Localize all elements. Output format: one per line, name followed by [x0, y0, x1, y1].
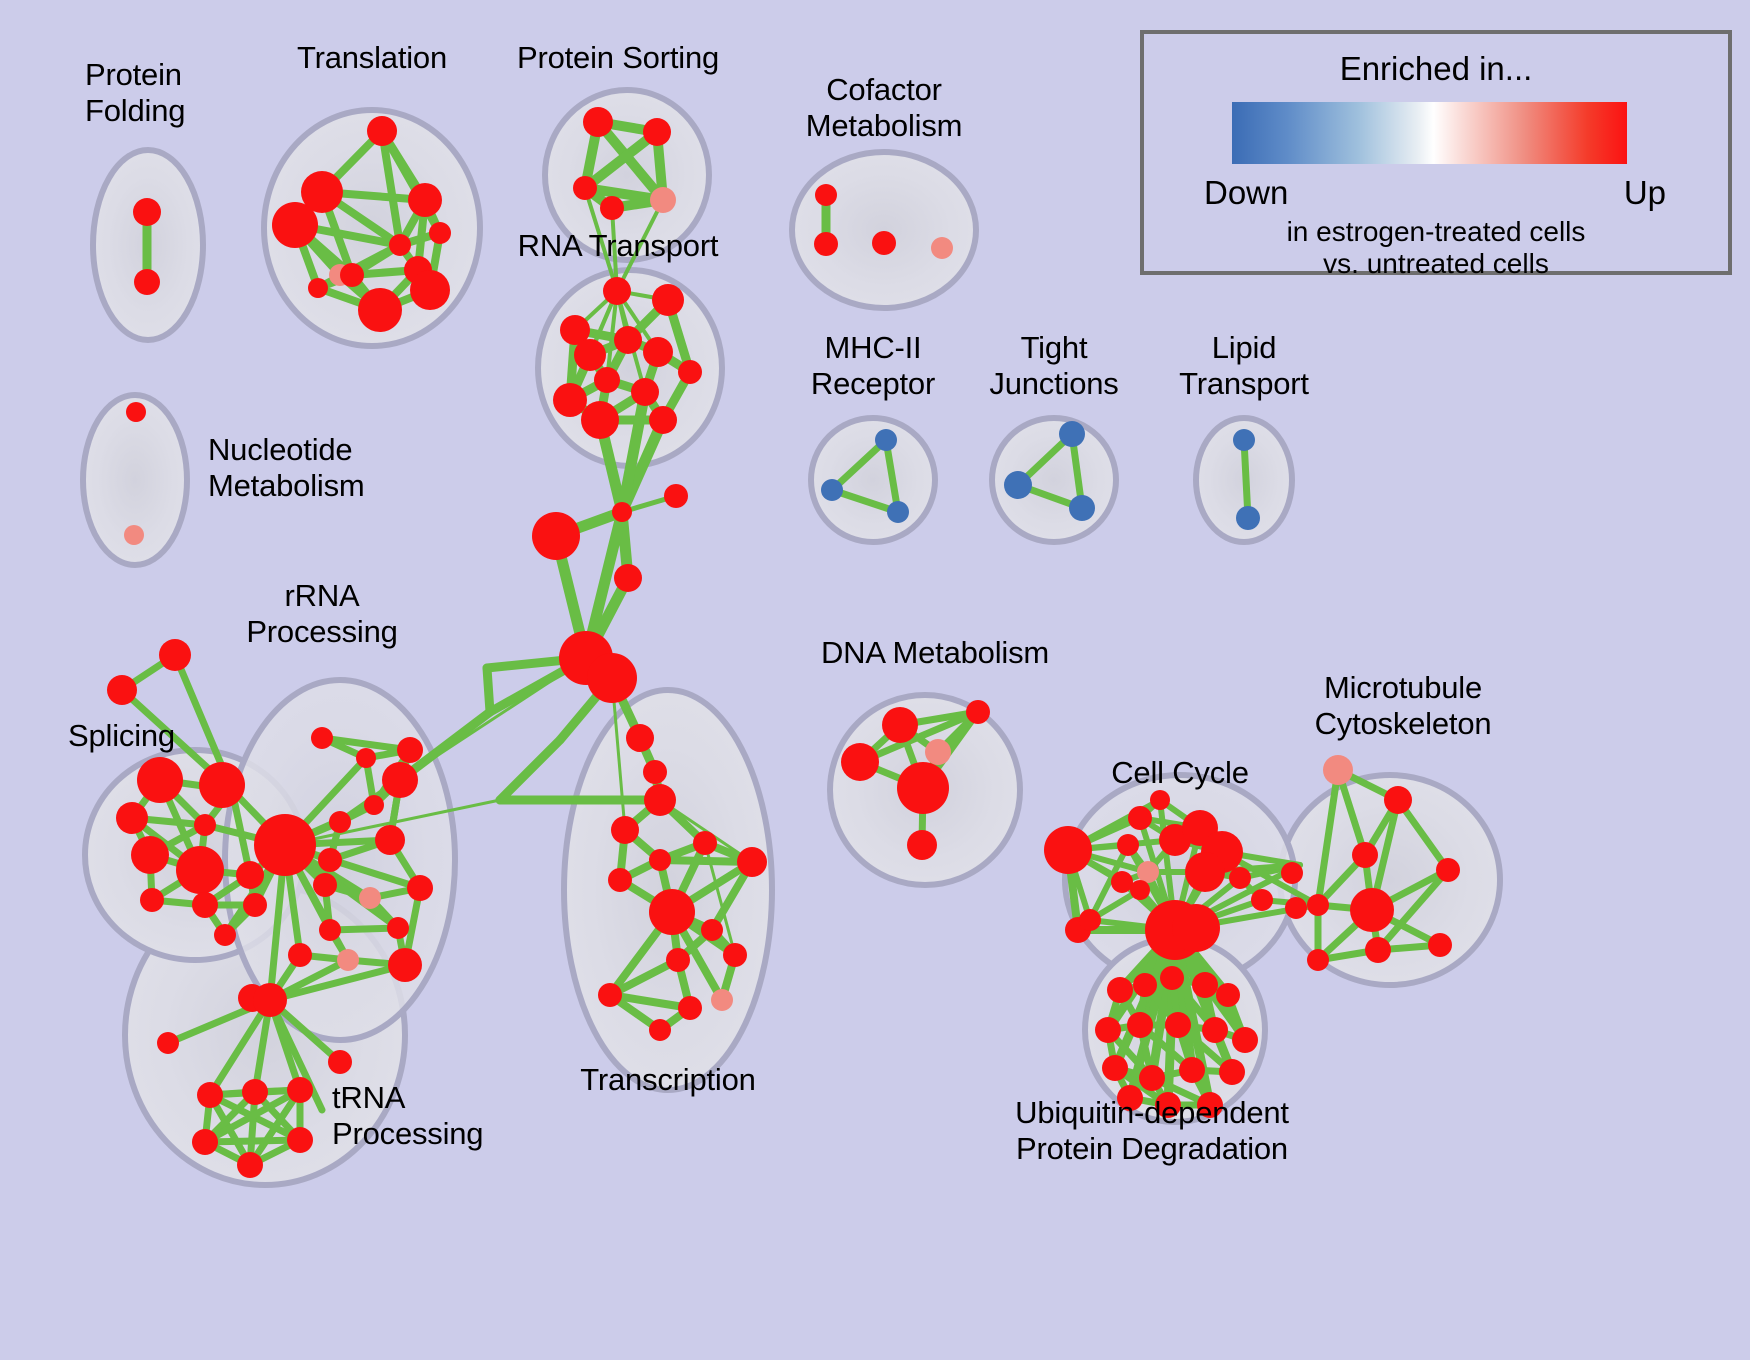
node: [329, 811, 351, 833]
node: [1172, 904, 1220, 952]
legend-down-label: Down: [1204, 174, 1288, 212]
cluster-label-mhc-ii-receptor: MHC-II Receptor: [811, 330, 935, 402]
node: [1160, 966, 1184, 990]
node: [1352, 842, 1378, 868]
node: [553, 383, 587, 417]
node: [1004, 471, 1032, 499]
node: [1137, 861, 1159, 883]
node: [214, 924, 236, 946]
node: [701, 919, 723, 941]
node: [236, 861, 264, 889]
node: [650, 187, 676, 213]
node: [1428, 933, 1452, 957]
node: [573, 176, 597, 200]
node: [237, 1152, 263, 1178]
node: [598, 983, 622, 1007]
cluster-label-microtubule-cytoskeleton: Microtubule Cytoskeleton: [1315, 670, 1492, 742]
node: [242, 1079, 268, 1105]
node: [1128, 806, 1152, 830]
node: [254, 814, 316, 876]
node: [723, 943, 747, 967]
node: [1095, 1017, 1121, 1043]
node: [1107, 977, 1133, 1003]
node: [375, 825, 405, 855]
node: [897, 762, 949, 814]
node: [1165, 1012, 1191, 1038]
node: [643, 760, 667, 784]
node: [397, 737, 423, 763]
cluster-hull-cofactor-metabolism: [792, 152, 976, 308]
node: [614, 326, 642, 354]
node: [1251, 889, 1273, 911]
node: [311, 727, 333, 749]
node: [574, 339, 606, 371]
cluster-label-cell-cycle: Cell Cycle: [1111, 755, 1249, 791]
node: [408, 183, 442, 217]
cluster-label-dna-metabolism: DNA Metabolism: [821, 635, 1049, 671]
node: [649, 1019, 671, 1041]
node: [1192, 972, 1218, 998]
node: [1307, 894, 1329, 916]
node: [337, 949, 359, 971]
node: [388, 948, 422, 982]
node: [643, 118, 671, 146]
node: [1179, 1057, 1205, 1083]
node: [358, 288, 402, 332]
legend-color-gradient-bar: [1232, 102, 1627, 164]
node: [841, 743, 879, 781]
node: [907, 830, 937, 860]
node: [272, 202, 318, 248]
node: [1059, 421, 1085, 447]
node: [631, 378, 659, 406]
node: [931, 237, 953, 259]
node: [1102, 1055, 1128, 1081]
node: [1069, 495, 1095, 521]
node: [814, 232, 838, 256]
cluster-label-rna-transport: RNA Transport: [518, 228, 719, 264]
legend-caption-line1: in estrogen-treated cells: [1144, 216, 1728, 248]
node: [1233, 429, 1255, 451]
node: [1219, 1059, 1245, 1085]
node: [288, 943, 312, 967]
node: [1323, 755, 1353, 785]
node: [1079, 909, 1101, 931]
node: [608, 868, 632, 892]
node: [649, 889, 695, 935]
node: [1236, 506, 1260, 530]
node: [313, 873, 337, 897]
cluster-label-ubiquitin-protein-degradation: Ubiquitin-dependent Protein Degradation: [1015, 1095, 1289, 1167]
cluster-label-tight-junctions: Tight Junctions: [989, 330, 1118, 402]
node: [875, 429, 897, 451]
node: [532, 512, 580, 560]
node: [1150, 790, 1170, 810]
node: [925, 739, 951, 765]
node: [159, 639, 191, 671]
node: [600, 196, 624, 220]
node: [652, 284, 684, 316]
node: [649, 849, 671, 871]
node: [133, 198, 161, 226]
cluster-label-transcription: Transcription: [580, 1062, 755, 1098]
node: [429, 222, 451, 244]
legend-panel: Enriched in... Down Up in estrogen-treat…: [1140, 30, 1732, 275]
node: [887, 501, 909, 523]
node: [199, 762, 245, 808]
node: [1202, 1017, 1228, 1043]
node: [821, 479, 843, 501]
node: [611, 816, 639, 844]
node: [328, 1050, 352, 1074]
node: [192, 892, 218, 918]
node: [1133, 973, 1157, 997]
node: [1285, 897, 1307, 919]
node: [137, 757, 183, 803]
node: [157, 1032, 179, 1054]
node: [253, 983, 287, 1017]
node: [410, 270, 450, 310]
node: [192, 1129, 218, 1155]
node: [614, 564, 642, 592]
node: [594, 367, 620, 393]
node: [1384, 786, 1412, 814]
node: [583, 107, 613, 137]
node: [1350, 888, 1394, 932]
node: [131, 836, 169, 874]
node: [587, 653, 637, 703]
node: [1130, 880, 1150, 900]
node: [693, 831, 717, 855]
node: [872, 231, 896, 255]
node: [1127, 1012, 1153, 1038]
node: [126, 402, 146, 422]
node: [359, 887, 381, 909]
node: [1117, 834, 1139, 856]
node: [356, 748, 376, 768]
cluster-label-splicing: Splicing: [68, 718, 175, 754]
cluster-label-trna-processing: tRNA Processing: [332, 1080, 483, 1152]
node: [287, 1077, 313, 1103]
cluster-label-lipid-transport: Lipid Transport: [1179, 330, 1309, 402]
node: [603, 277, 631, 305]
node: [387, 917, 409, 939]
node: [116, 802, 148, 834]
node: [319, 919, 341, 941]
node: [1307, 949, 1329, 971]
cluster-label-protein-folding: Protein Folding: [85, 57, 185, 129]
node: [815, 184, 837, 206]
legend-up-label: Up: [1624, 174, 1666, 212]
node: [340, 263, 364, 287]
node: [666, 948, 690, 972]
node: [367, 116, 397, 146]
node: [649, 406, 677, 434]
node: [1229, 867, 1251, 889]
node: [643, 337, 673, 367]
cluster-label-translation: Translation: [297, 40, 447, 76]
node: [197, 1082, 223, 1108]
node: [664, 484, 688, 508]
node: [612, 502, 632, 522]
node: [124, 525, 144, 545]
node: [1139, 1065, 1165, 1091]
cluster-label-cofactor-metabolism: Cofactor Metabolism: [806, 72, 963, 144]
node: [737, 847, 767, 877]
node: [678, 360, 702, 384]
node: [626, 724, 654, 752]
node: [382, 762, 418, 798]
node: [1111, 871, 1133, 893]
node: [308, 278, 328, 298]
node: [194, 814, 216, 836]
node: [1185, 852, 1225, 892]
node: [176, 846, 224, 894]
node: [134, 269, 160, 295]
node: [711, 989, 733, 1011]
node: [1365, 937, 1391, 963]
node: [243, 893, 267, 917]
cluster-label-rrna-processing: rRNA Processing: [246, 578, 397, 650]
node: [107, 675, 137, 705]
node: [1232, 1027, 1258, 1053]
node: [678, 996, 702, 1020]
node: [364, 795, 384, 815]
node: [318, 848, 342, 872]
legend-title: Enriched in...: [1144, 50, 1728, 88]
node: [882, 707, 918, 743]
node: [581, 401, 619, 439]
enrichment-network-figure: Protein Folding Translation Protein Sort…: [0, 0, 1750, 1360]
node: [1044, 826, 1092, 874]
cluster-label-protein-sorting: Protein Sorting: [517, 40, 719, 76]
node: [389, 234, 411, 256]
node: [407, 875, 433, 901]
node: [1216, 983, 1240, 1007]
node: [287, 1127, 313, 1153]
node: [1436, 858, 1460, 882]
node: [140, 888, 164, 912]
node: [1281, 862, 1303, 884]
cluster-label-nucleotide-metabolism: Nucleotide Metabolism: [208, 432, 365, 504]
node: [966, 700, 990, 724]
node: [644, 784, 676, 816]
legend-caption-line2: vs. untreated cells: [1144, 248, 1728, 280]
